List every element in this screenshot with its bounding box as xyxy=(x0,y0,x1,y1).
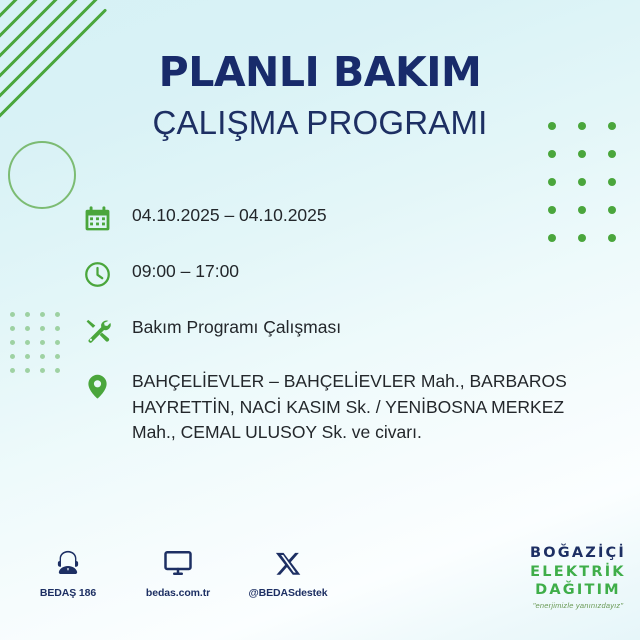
support-agent-icon xyxy=(26,544,110,582)
detail-text-date: 04.10.2025 – 04.10.2025 xyxy=(122,200,327,229)
tools-icon xyxy=(84,313,122,347)
bedas-logo: BOĞAZİÇİ ELEKTRİK DAĞITIM "enerjimizle y… xyxy=(530,546,626,609)
poster-footer: BEDAŞ 186 bedas.com.tr @BEDASdestek xyxy=(0,544,640,622)
calendar-icon xyxy=(84,201,122,235)
page-subtitle: ÇALIŞMA PROGRAMI xyxy=(0,106,640,139)
poster-header: PLANLI BAKIM ÇALIŞMA PROGRAMI xyxy=(0,52,640,139)
contact-social[interactable]: @BEDASdestek xyxy=(246,544,330,599)
detail-row-date: 04.10.2025 – 04.10.2025 xyxy=(84,200,600,235)
contact-website[interactable]: bedas.com.tr xyxy=(136,544,220,599)
clock-icon xyxy=(84,257,122,291)
monitor-icon xyxy=(136,544,220,582)
detail-row-worktype: Bakım Programı Çalışması xyxy=(84,312,600,347)
detail-text-time: 09:00 – 17:00 xyxy=(122,256,239,285)
detail-row-time: 09:00 – 17:00 xyxy=(84,256,600,291)
contact-phone[interactable]: BEDAŞ 186 xyxy=(26,544,110,599)
planned-maintenance-poster: PLANLI BAKIM ÇALIŞMA PROGRAMI 04.10.2025… xyxy=(0,0,640,640)
page-title: PLANLI BAKIM xyxy=(0,52,640,93)
contact-channels: BEDAŞ 186 bedas.com.tr @BEDASdestek xyxy=(26,544,330,599)
logo-tagline: "enerjimizle yanınızdayız" xyxy=(530,602,626,610)
location-pin-icon xyxy=(84,369,122,403)
x-social-icon xyxy=(246,544,330,582)
logo-line-dagitim: DAĞITIM xyxy=(530,583,626,598)
logo-line-elektrik: ELEKTRİK xyxy=(530,565,626,580)
detail-text-worktype: Bakım Programı Çalışması xyxy=(122,312,341,341)
detail-row-location: BAHÇELİEVLER – BAHÇELİEVLER Mah., BARBAR… xyxy=(84,368,600,446)
maintenance-details: 04.10.2025 – 04.10.2025 09:00 – 17:00 Ba… xyxy=(84,200,600,467)
detail-text-location: BAHÇELİEVLER – BAHÇELİEVLER Mah., BARBAR… xyxy=(122,368,600,446)
contact-social-label: @BEDASdestek xyxy=(246,587,330,599)
contact-website-label: bedas.com.tr xyxy=(136,587,220,599)
contact-phone-label: BEDAŞ 186 xyxy=(26,587,110,599)
circle-outline-decoration xyxy=(8,141,76,209)
dot-grid-left-decoration xyxy=(10,312,70,382)
logo-line-bogazici: BOĞAZİÇİ xyxy=(530,546,626,561)
